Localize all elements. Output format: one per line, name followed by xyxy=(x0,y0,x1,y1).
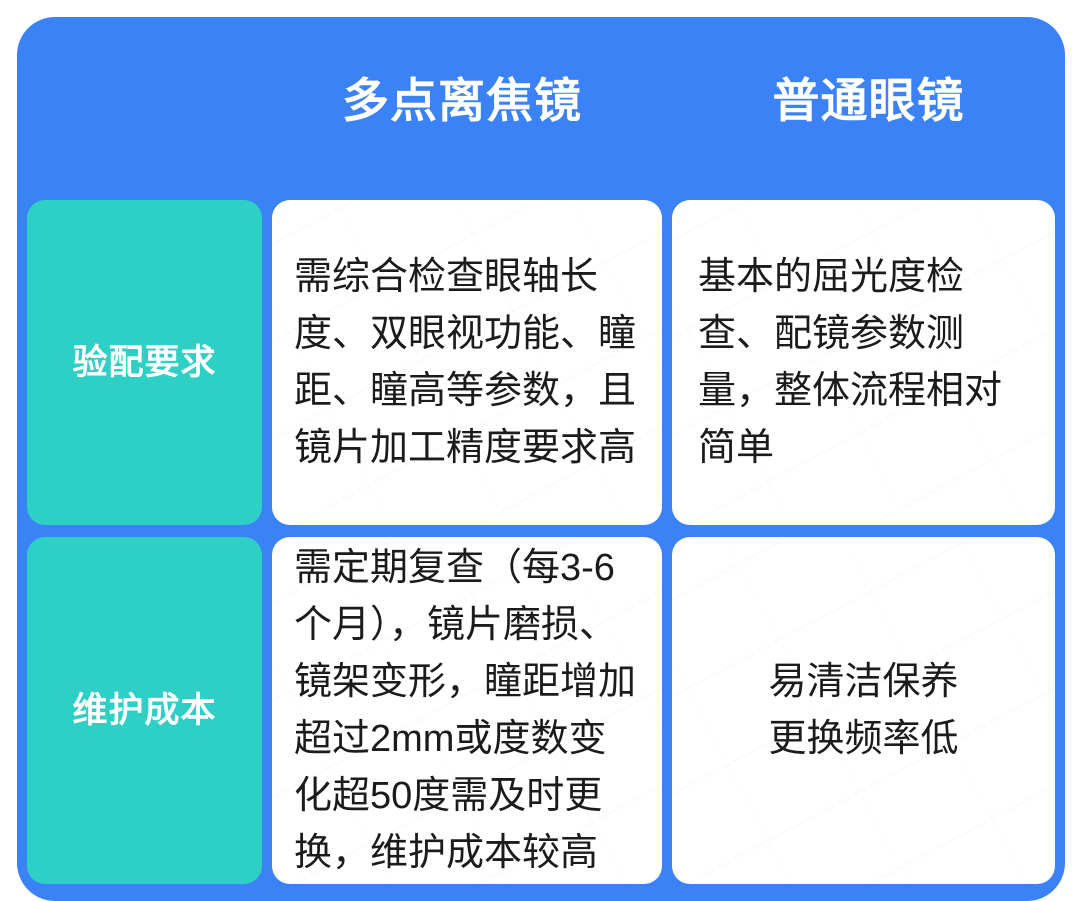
header-label-spacer xyxy=(17,17,262,183)
table-row: 验配要求 需综合检查眼轴长度、双眼视功能、瞳距、瞳高等参数，且镜片加工精度要求高… xyxy=(17,200,1065,525)
cell-ordinary-fitting-requirements: 基本的屈光度检查、配镜参数测量，整体流程相对简单 xyxy=(672,200,1055,525)
header-title-ordinary: 普通眼镜 xyxy=(773,77,965,124)
cell-ordinary-maintenance-cost: 易清洁保养 更换频率低 xyxy=(672,537,1055,884)
row-label-text: 验配要求 xyxy=(72,345,216,380)
header-title-multifocal: 多点离焦镜 xyxy=(342,77,582,124)
cell-text: 易清洁保养 更换频率低 xyxy=(672,654,1055,768)
row-label-fitting-requirements: 验配要求 xyxy=(27,200,262,525)
row-label-text: 维护成本 xyxy=(72,693,216,728)
cell-multifocal-fitting-requirements: 需综合检查眼轴长度、双眼视功能、瞳距、瞳高等参数，且镜片加工精度要求高 xyxy=(272,200,662,525)
table-body: 验配要求 需综合检查眼轴长度、双眼视功能、瞳距、瞳高等参数，且镜片加工精度要求高… xyxy=(17,183,1065,901)
row-label-maintenance-cost: 维护成本 xyxy=(27,537,262,884)
cell-text: 需定期复查（每3-6个月），镜片磨损、镜架变形，瞳距增加超过2mm或度数变化超5… xyxy=(272,540,662,882)
cell-text: 需综合检查眼轴长度、双眼视功能、瞳距、瞳高等参数，且镜片加工精度要求高 xyxy=(272,249,662,477)
header-column-multifocal: 多点离焦镜 xyxy=(262,17,662,183)
header-column-ordinary: 普通眼镜 xyxy=(672,17,1065,183)
table-row: 维护成本 需定期复查（每3-6个月），镜片磨损、镜架变形，瞳距增加超过2mm或度… xyxy=(17,537,1065,884)
cell-text: 基本的屈光度检查、配镜参数测量，整体流程相对简单 xyxy=(672,249,1055,477)
cell-multifocal-maintenance-cost: 需定期复查（每3-6个月），镜片磨损、镜架变形，瞳距增加超过2mm或度数变化超5… xyxy=(272,537,662,884)
comparison-table-panel: 多点离焦镜 普通眼镜 验配要求 需综合检查眼轴长度、双眼视功能、瞳距、瞳高等参数… xyxy=(17,17,1065,901)
table-header-row: 多点离焦镜 普通眼镜 xyxy=(17,17,1065,183)
